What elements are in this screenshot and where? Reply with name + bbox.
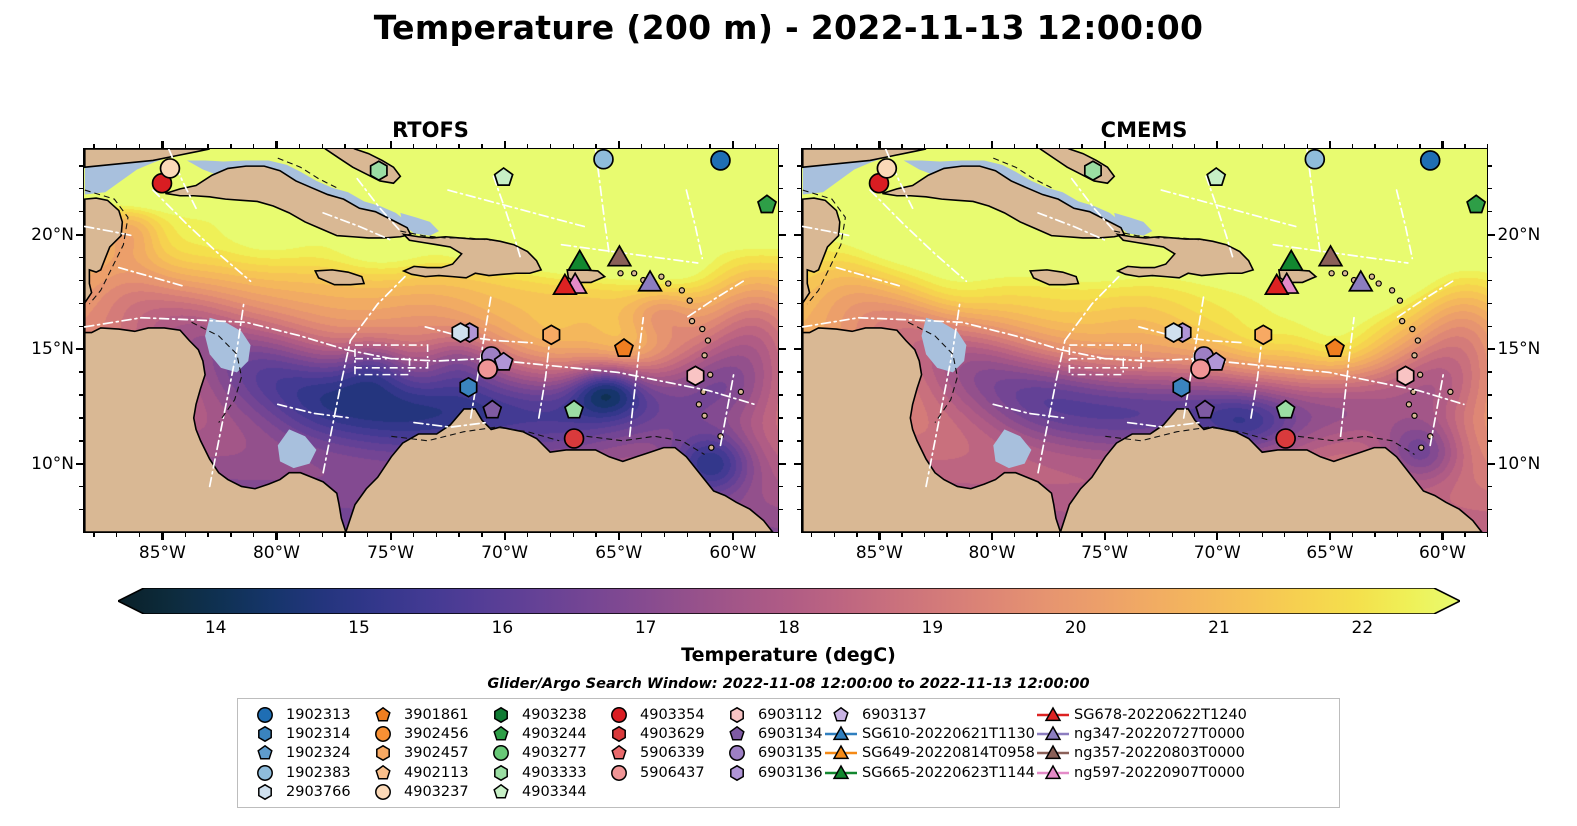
lon-tick-major <box>275 533 277 540</box>
lon-tick-major-top <box>161 141 163 148</box>
legend-item-label: 2903766 <box>282 784 351 800</box>
legend-item-label: 4903629 <box>636 726 705 742</box>
lat-label-left-10°N: 10°N <box>8 454 74 474</box>
lon-tick-minor <box>1059 533 1060 537</box>
legend-item-3902457[interactable]: 3902457 <box>366 744 484 763</box>
legend-item-4903237[interactable]: 4903237 <box>366 783 484 802</box>
lon-tick-minor <box>924 533 925 537</box>
lat-tick-minor-r <box>1488 280 1492 281</box>
marker-4903333[interactable] <box>1084 161 1100 180</box>
colorbar-tick-22: 22 <box>1332 618 1392 638</box>
lat-tick-major-r <box>1488 234 1495 236</box>
glider-marker-icon <box>1036 725 1070 743</box>
lat-tick-minor <box>797 303 801 304</box>
lon-tick-minor <box>664 533 665 537</box>
marker-4903344[interactable] <box>494 168 512 185</box>
lon-tick-minor-top <box>1419 144 1420 148</box>
colorbar-tick-18: 18 <box>759 618 819 638</box>
lon-label-75°W: 75°W <box>1063 543 1147 563</box>
lon-tick-minor-top <box>93 144 94 148</box>
legend-item-5906437[interactable]: 5906437 <box>602 763 720 782</box>
lat-tick-minor-r <box>1488 417 1492 418</box>
lat-label-left-20°N: 20°N <box>8 225 74 245</box>
argo-marker-icon <box>602 744 636 762</box>
marker-3902457[interactable] <box>1255 325 1271 344</box>
legend-item-4903344[interactable]: 4903344 <box>484 783 602 802</box>
lon-tick-minor-top <box>664 144 665 148</box>
lon-tick-minor <box>1149 533 1150 537</box>
legend-item-3902456[interactable]: 3902456 <box>366 724 484 743</box>
legend-item-label: 6903135 <box>754 745 823 761</box>
lon-tick-major-top <box>1216 141 1218 148</box>
legend-column-6: 6903137SG610-20220621T1130SG649-20220814… <box>824 705 1036 783</box>
legend-item-3901861[interactable]: 3901861 <box>366 705 484 724</box>
lon-tick-minor-top <box>778 144 779 148</box>
lat-tick-minor-r <box>779 257 783 258</box>
lat-tick-minor-r <box>1488 257 1492 258</box>
marker-2903766[interactable] <box>1165 323 1181 342</box>
lat-tick-minor <box>79 394 83 395</box>
legend-item-4902113[interactable]: 4902113 <box>366 763 484 782</box>
legend-item-4903333[interactable]: 4903333 <box>484 763 602 782</box>
lon-tick-minor <box>1397 533 1398 537</box>
legend-item-label: 4903277 <box>518 745 587 761</box>
legend-item-ng357-20220803T0000[interactable]: ng357-20220803T0000 <box>1036 744 1251 763</box>
lon-tick-major <box>732 533 734 540</box>
legend-item-label: SG665-20220623T1144 <box>858 765 1035 781</box>
legend-item-label: 6903134 <box>754 726 823 742</box>
marker-6903137[interactable] <box>1196 400 1214 417</box>
colorbar-tick-16: 16 <box>472 618 532 638</box>
marker-3902457[interactable] <box>543 325 559 344</box>
lat-tick-major-r <box>1488 348 1495 350</box>
lat-tick-minor-r <box>779 165 783 166</box>
legend-item-label: 3902457 <box>400 745 469 761</box>
lon-tick-minor-top <box>1397 144 1398 148</box>
lat-tick-major-r <box>779 348 786 350</box>
colorbar[interactable] <box>118 588 1460 614</box>
marker-1902313[interactable] <box>1420 150 1439 169</box>
panel-title-cmems: CMEMS <box>801 118 1488 142</box>
marker-SG665-20220623T1144[interactable] <box>568 250 591 270</box>
legend-item-6903134[interactable]: 6903134 <box>720 724 824 743</box>
legend-item-1902324[interactable]: 1902324 <box>248 744 366 763</box>
lat-tick-minor <box>79 440 83 441</box>
map-overlay-cmems <box>802 149 1487 532</box>
lat-tick-minor <box>797 165 801 166</box>
lat-tick-minor <box>797 211 801 212</box>
legend-column-4: 4903354490362959063395906437 <box>602 705 720 783</box>
lon-label-70°W: 70°W <box>1175 543 1259 563</box>
glider-marker-icon <box>1036 764 1070 782</box>
marker-4903277[interactable] <box>565 400 583 417</box>
marker-3901861[interactable] <box>1325 339 1343 356</box>
lat-label-right-20°N: 20°N <box>1498 225 1568 245</box>
glider-marker-icon <box>824 725 858 743</box>
lon-tick-minor <box>1172 533 1173 537</box>
lat-tick-major <box>794 348 801 350</box>
lon-label-65°W: 65°W <box>577 543 661 563</box>
lon-tick-minor <box>856 533 857 537</box>
lon-tick-major-top <box>504 141 506 148</box>
lon-tick-major <box>390 533 392 540</box>
lon-tick-major <box>161 533 163 540</box>
lat-label-right-10°N: 10°N <box>1498 454 1568 474</box>
lon-tick-major <box>878 533 880 540</box>
marker-3901861[interactable] <box>614 339 632 356</box>
lon-tick-minor-top <box>811 144 812 148</box>
lon-tick-minor-top <box>1239 144 1240 148</box>
marker-4903629[interactable] <box>564 429 583 448</box>
lon-tick-minor <box>834 533 835 537</box>
lat-tick-minor <box>79 165 83 166</box>
legend-item-label: 3901861 <box>400 707 469 723</box>
argo-marker-icon <box>720 764 754 782</box>
lon-tick-minor-top <box>413 144 414 148</box>
legend-item-4903354[interactable]: 4903354 <box>602 705 720 724</box>
argo-marker-icon <box>484 725 518 743</box>
lon-tick-minor <box>458 533 459 537</box>
lon-tick-minor <box>1239 533 1240 537</box>
argo-marker-icon <box>366 744 400 762</box>
legend-column-1: 19023131902314190232419023832903766 <box>248 705 366 802</box>
legend-item-label: 1902314 <box>282 726 351 742</box>
lon-tick-minor <box>299 533 300 537</box>
legend-column-2: 39018613902456390245749021134903237 <box>366 705 484 802</box>
lon-tick-minor <box>901 533 902 537</box>
marker-1902383[interactable] <box>594 149 613 168</box>
lon-tick-minor <box>93 533 94 537</box>
legend-item-label: 4903333 <box>518 765 587 781</box>
legend-column-3: 49032384903244490327749033334903344 <box>484 705 602 802</box>
legend-item-SG649-20220814T0958[interactable]: SG649-20220814T0958 <box>824 744 1036 763</box>
lon-tick-minor-top <box>573 144 574 148</box>
lon-tick-minor <box>1307 533 1308 537</box>
lon-tick-minor <box>595 533 596 537</box>
marker-1902314[interactable] <box>1173 377 1189 396</box>
lon-tick-major <box>991 533 993 540</box>
legend-item-4903277[interactable]: 4903277 <box>484 744 602 763</box>
lon-tick-minor <box>778 533 779 537</box>
lon-tick-major <box>504 533 506 540</box>
lon-tick-minor <box>367 533 368 537</box>
argo-marker-icon <box>484 706 518 724</box>
marker-4903237[interactable] <box>877 158 896 177</box>
legend-item-1902314[interactable]: 1902314 <box>248 724 366 743</box>
lon-tick-major-top <box>390 141 392 148</box>
colorbar-tick-21: 21 <box>1189 618 1249 638</box>
legend-item-1902383[interactable]: 1902383 <box>248 763 366 782</box>
argo-marker-icon <box>484 783 518 801</box>
lat-tick-minor <box>797 486 801 487</box>
argo-marker-icon <box>366 706 400 724</box>
lat-tick-minor <box>797 509 801 510</box>
legend-item-label: SG649-20220814T0958 <box>858 745 1035 761</box>
legend-item-ng597-20220907T0000[interactable]: ng597-20220907T0000 <box>1036 763 1251 782</box>
lat-tick-minor-r <box>779 280 783 281</box>
marker-4903238[interactable] <box>757 195 775 212</box>
legend-item-4903238[interactable]: 4903238 <box>484 705 602 724</box>
lon-tick-minor-top <box>1014 144 1015 148</box>
lat-tick-minor <box>797 280 801 281</box>
argo-marker-icon <box>484 744 518 762</box>
lon-tick-minor-top <box>969 144 970 148</box>
legend-item-label: 4903354 <box>636 707 705 723</box>
legend-item-label: ng597-20220907T0000 <box>1070 765 1245 781</box>
lon-label-85°W: 85°W <box>837 543 921 563</box>
lon-tick-minor-top <box>1081 144 1082 148</box>
lat-tick-minor-r <box>1488 394 1492 395</box>
lon-tick-minor-top <box>344 144 345 148</box>
legend-item-4903629[interactable]: 4903629 <box>602 724 720 743</box>
lon-tick-minor <box>1352 533 1353 537</box>
lon-tick-minor-top <box>1487 144 1488 148</box>
lon-tick-minor-top <box>436 144 437 148</box>
lon-tick-minor <box>344 533 345 537</box>
lon-tick-minor-top <box>1036 144 1037 148</box>
argo-marker-icon <box>248 706 282 724</box>
legend-item-6903137[interactable]: 6903137 <box>824 705 1036 724</box>
lat-tick-minor <box>797 394 801 395</box>
marker-4903629[interactable] <box>1276 429 1295 448</box>
marker-SG665-20220623T1144[interactable] <box>1279 250 1302 270</box>
lon-tick-minor <box>811 533 812 537</box>
lon-tick-minor <box>1284 533 1285 537</box>
marker-4903277[interactable] <box>1276 400 1294 417</box>
lon-tick-minor-top <box>641 144 642 148</box>
lon-tick-major-top <box>275 141 277 148</box>
panel-title-rtofs: RTOFS <box>83 118 779 142</box>
lon-tick-minor-top <box>1284 144 1285 148</box>
legend-item-label: 4903244 <box>518 726 587 742</box>
lon-tick-minor <box>481 533 482 537</box>
map-overlay-rtofs <box>84 149 778 532</box>
legend-item-label: 5906437 <box>636 765 705 781</box>
legend-item-label: 6903137 <box>858 707 927 723</box>
lon-label-65°W: 65°W <box>1288 543 1372 563</box>
lat-tick-minor-r <box>1488 371 1492 372</box>
lat-tick-minor-r <box>779 417 783 418</box>
lat-tick-minor <box>79 280 83 281</box>
marker-6903137[interactable] <box>483 400 501 417</box>
lat-tick-minor-r <box>1488 486 1492 487</box>
lat-tick-minor <box>797 440 801 441</box>
lon-tick-minor-top <box>1262 144 1263 148</box>
lon-tick-minor <box>1262 533 1263 537</box>
lon-tick-minor-top <box>1172 144 1173 148</box>
lat-tick-minor <box>797 188 801 189</box>
lon-tick-minor <box>1374 533 1375 537</box>
argo-marker-icon <box>602 764 636 782</box>
lon-tick-minor-top <box>207 144 208 148</box>
lon-tick-minor <box>139 533 140 537</box>
lon-tick-minor <box>1081 533 1082 537</box>
marker-ng357-20220803T0000[interactable] <box>608 245 631 265</box>
lon-tick-major-top <box>618 141 620 148</box>
legend-columns: 1902313190231419023241902383290376639018… <box>248 705 1331 802</box>
legend-item-6903136[interactable]: 6903136 <box>720 763 824 782</box>
lat-tick-minor <box>79 417 83 418</box>
lon-label-60°W: 60°W <box>691 543 775 563</box>
lat-tick-major <box>76 348 83 350</box>
legend-item-6903135[interactable]: 6903135 <box>720 744 824 763</box>
legend-item-1902313[interactable]: 1902313 <box>248 705 366 724</box>
legend-item-6903112[interactable]: 6903112 <box>720 705 824 724</box>
lon-tick-minor <box>969 533 970 537</box>
lon-tick-minor-top <box>116 144 117 148</box>
marker-5906437[interactable] <box>1191 359 1210 378</box>
lon-tick-minor-top <box>901 144 902 148</box>
legend-item-label: 1902313 <box>282 707 351 723</box>
lon-tick-minor-top <box>550 144 551 148</box>
lat-tick-minor-r <box>779 371 783 372</box>
lat-tick-major-r <box>779 234 786 236</box>
legend-box: 1902313190231419023241902383290376639018… <box>237 698 1340 808</box>
map-panel-rtofs[interactable] <box>83 148 779 533</box>
argo-marker-icon <box>824 706 858 724</box>
lon-tick-minor-top <box>755 144 756 148</box>
legend-item-label: 6903136 <box>754 765 823 781</box>
lon-tick-minor <box>436 533 437 537</box>
lon-tick-major <box>1329 533 1331 540</box>
lon-tick-major <box>1104 533 1106 540</box>
lat-label-right-15°N: 15°N <box>1498 339 1568 359</box>
lon-tick-minor-top <box>946 144 947 148</box>
lat-tick-minor <box>79 211 83 212</box>
lon-tick-minor <box>413 533 414 537</box>
lon-label-85°W: 85°W <box>120 543 204 563</box>
lon-tick-minor-top <box>1352 144 1353 148</box>
map-panel-cmems[interactable] <box>801 148 1488 533</box>
lon-tick-minor-top <box>230 144 231 148</box>
lat-tick-minor <box>797 326 801 327</box>
legend-item-label: 4903238 <box>518 707 587 723</box>
legend-column-5: 6903112690313469031356903136 <box>720 705 824 783</box>
marker-6903112[interactable] <box>687 366 703 385</box>
marker-ng357-20220803T0000[interactable] <box>1319 245 1342 265</box>
argo-marker-icon <box>248 764 282 782</box>
map-vector-layer-rtofs <box>84 149 778 532</box>
legend-item-label: 1902383 <box>282 765 351 781</box>
lat-tick-major-r <box>779 463 786 465</box>
glider-marker-icon <box>1036 706 1070 724</box>
lat-tick-minor <box>797 371 801 372</box>
lon-tick-minor <box>230 533 231 537</box>
lon-tick-minor-top <box>1059 144 1060 148</box>
legend-item-5906339[interactable]: 5906339 <box>602 744 720 763</box>
lon-tick-minor <box>573 533 574 537</box>
lat-tick-minor-r <box>779 211 783 212</box>
colorbar-title: Temperature (degC) <box>0 644 1577 666</box>
legend-item-label: 4903344 <box>518 784 587 800</box>
lon-tick-minor-top <box>1374 144 1375 148</box>
lat-tick-major <box>794 234 801 236</box>
lat-tick-minor-r <box>779 440 783 441</box>
marker-1902314[interactable] <box>460 377 476 396</box>
marker-2903766[interactable] <box>452 323 468 342</box>
lon-label-60°W: 60°W <box>1400 543 1484 563</box>
lat-tick-minor <box>79 326 83 327</box>
marker-5906437[interactable] <box>478 359 497 378</box>
legend-item-SG610-20220621T1130[interactable]: SG610-20220621T1130 <box>824 724 1036 743</box>
marker-1902313[interactable] <box>711 150 730 169</box>
lon-tick-minor <box>1194 533 1195 537</box>
lat-tick-minor-r <box>1488 440 1492 441</box>
argo-marker-icon <box>366 725 400 743</box>
lon-tick-minor-top <box>1149 144 1150 148</box>
marker-4903333[interactable] <box>370 161 386 180</box>
lat-label-left-15°N: 15°N <box>8 339 74 359</box>
lat-tick-minor-r <box>779 486 783 487</box>
lat-tick-minor-r <box>779 326 783 327</box>
lon-label-75°W: 75°W <box>349 543 433 563</box>
lat-tick-major-r <box>1488 463 1495 465</box>
lon-tick-minor <box>550 533 551 537</box>
lon-tick-major-top <box>732 141 734 148</box>
legend-item-label: 5906339 <box>636 745 705 761</box>
lon-tick-minor <box>755 533 756 537</box>
lon-tick-minor-top <box>834 144 835 148</box>
colorbar-tick-19: 19 <box>902 618 962 638</box>
figure-canvas: Temperature (200 m) - 2022-11-13 12:00:0… <box>0 0 1577 826</box>
legend-item-2903766[interactable]: 2903766 <box>248 783 366 802</box>
legend-item-label: 1902324 <box>282 745 351 761</box>
argo-marker-icon <box>720 744 754 762</box>
legend-item-SG665-20220623T1144[interactable]: SG665-20220623T1144 <box>824 763 1036 782</box>
legend-item-ng347-20220727T0000[interactable]: ng347-20220727T0000 <box>1036 724 1251 743</box>
lat-tick-minor <box>79 486 83 487</box>
lon-tick-major-top <box>1104 141 1106 148</box>
lon-tick-minor <box>641 533 642 537</box>
marker-1902383[interactable] <box>1305 149 1324 168</box>
lon-label-70°W: 70°W <box>463 543 547 563</box>
colorbar-tick-20: 20 <box>1046 618 1106 638</box>
lon-tick-minor-top <box>139 144 140 148</box>
marker-4903237[interactable] <box>160 158 179 177</box>
legend-item-label: 6903112 <box>754 707 823 723</box>
legend-item-label: 4902113 <box>400 765 469 781</box>
lon-tick-minor <box>1127 533 1128 537</box>
lat-tick-minor-r <box>1488 165 1492 166</box>
lon-tick-minor-top <box>481 144 482 148</box>
argo-marker-icon <box>248 744 282 762</box>
lat-tick-major <box>76 463 83 465</box>
lon-tick-major <box>1441 533 1443 540</box>
argo-marker-icon <box>366 783 400 801</box>
lon-tick-major-top <box>878 141 880 148</box>
lon-tick-minor-top <box>1194 144 1195 148</box>
lat-tick-minor <box>797 417 801 418</box>
lon-tick-minor-top <box>367 144 368 148</box>
marker-4903344[interactable] <box>1207 168 1225 185</box>
marker-4903238[interactable] <box>1467 195 1485 212</box>
lon-tick-minor-top <box>709 144 710 148</box>
lon-label-80°W: 80°W <box>234 543 318 563</box>
map-vector-layer-cmems <box>802 149 1487 532</box>
lon-tick-minor-top <box>527 144 528 148</box>
lat-tick-minor <box>797 257 801 258</box>
colorbar-tick-17: 17 <box>616 618 676 638</box>
legend-item-4903244[interactable]: 4903244 <box>484 724 602 743</box>
marker-6903112[interactable] <box>1397 366 1413 385</box>
legend-item-SG678-20220622T1240[interactable]: SG678-20220622T1240 <box>1036 705 1251 724</box>
lat-tick-minor-r <box>1488 509 1492 510</box>
lat-tick-minor-r <box>779 394 783 395</box>
legend-item-label: ng347-20220727T0000 <box>1070 726 1245 742</box>
lat-tick-minor <box>79 188 83 189</box>
lat-tick-minor <box>79 371 83 372</box>
lon-tick-minor-top <box>856 144 857 148</box>
